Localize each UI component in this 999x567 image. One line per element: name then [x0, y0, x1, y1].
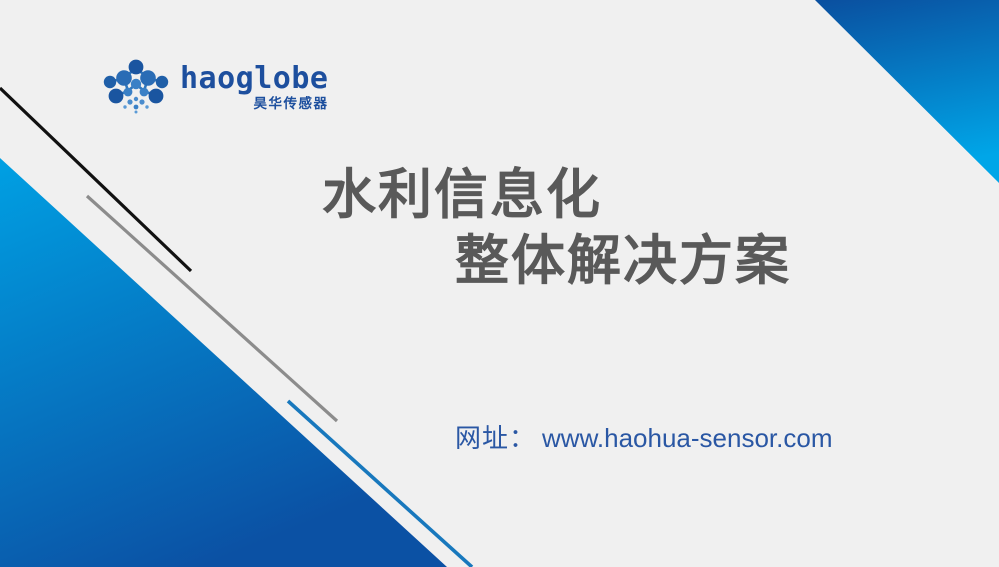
title-line-2: 整体解决方案 [0, 229, 999, 295]
haoglobe-molecule-logo-mark [98, 58, 174, 116]
company-logo: haoglobe 昊华传感器 [98, 58, 329, 116]
website-label: 网址： [455, 418, 536, 455]
website-url[interactable]: www.haohua-sensor.com [542, 423, 832, 454]
presentation-title-slide: haoglobe 昊华传感器 水利信息化 整体解决方案 网址： www.haoh… [0, 0, 999, 567]
logo-text-block: haoglobe 昊华传感器 [180, 58, 329, 111]
logo-wordmark: haoglobe [180, 64, 329, 94]
title-line-1: 水利信息化 [0, 163, 999, 229]
blue-triangle-top-right [815, 0, 999, 183]
website-line: 网址： www.haohua-sensor.com [455, 418, 833, 455]
page-title: 水利信息化 整体解决方案 [0, 163, 999, 295]
logo-subtitle: 昊华传感器 [254, 97, 329, 111]
